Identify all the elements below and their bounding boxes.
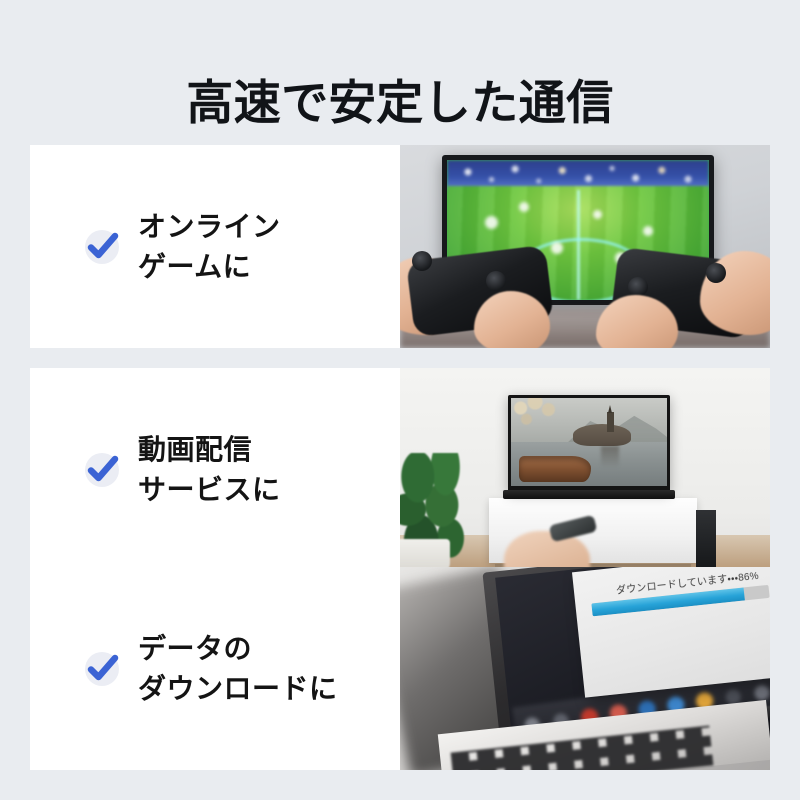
card-label-line1: オンライン bbox=[138, 207, 281, 247]
page-title: 高速で安定した通信 bbox=[0, 73, 800, 133]
card-text-side: 動画配信 サービスに bbox=[30, 368, 400, 571]
card-label: 動画配信 サービスに bbox=[138, 430, 281, 510]
living-room-tv-remote-photo: 白いテレビ台の上の薄型テレビと観葉植物、手前にリモコンを持つ手 bbox=[400, 368, 770, 571]
card-label-line2: サービスに bbox=[138, 470, 281, 510]
card-text-side: データの ダウンロードに bbox=[30, 567, 400, 770]
card-label-line1: 動画配信 bbox=[138, 430, 281, 470]
card-label: データの ダウンロードに bbox=[138, 629, 338, 709]
check-icon bbox=[82, 227, 122, 267]
promo-page: 高速で安定した通信 オンライン ゲームに bbox=[0, 0, 800, 800]
check-icon bbox=[82, 450, 122, 490]
download-progress-fill bbox=[591, 587, 745, 616]
card-label-line2: ゲームに bbox=[138, 247, 281, 287]
feature-card-data-download: データの ダウンロードに ダウンロードしています ダウンロードしています・・・8… bbox=[30, 567, 770, 770]
check-icon bbox=[82, 649, 122, 689]
laptop-download-progress-photo: ダウンロードしています ダウンロードしています・・・86% ノートパソコンの画面… bbox=[400, 567, 770, 770]
download-dialog: ダウンロードしています・・・86% bbox=[572, 567, 770, 698]
feature-card-online-game: オンライン ゲームに bbox=[30, 145, 770, 348]
gaming-controllers-tv-photo: テレビの前でゲームコントローラーを持つ二人の手、画面にはサッカーゲーム bbox=[400, 145, 770, 348]
card-label: オンライン ゲームに bbox=[138, 207, 281, 287]
card-label-line1: データの bbox=[138, 629, 338, 669]
card-text-side: オンライン ゲームに bbox=[30, 145, 400, 348]
card-label-line2: ダウンロードに bbox=[138, 669, 338, 709]
feature-card-video-streaming: 動画配信 サービスに bbox=[30, 368, 770, 571]
